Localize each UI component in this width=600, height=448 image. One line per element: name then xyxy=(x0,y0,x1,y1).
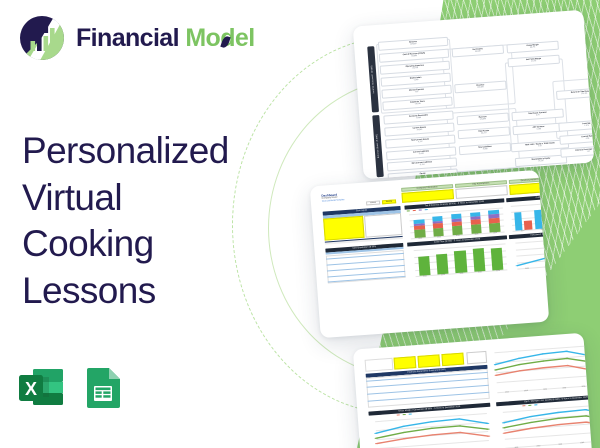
headline-line-4: Lessons xyxy=(22,268,292,315)
page-title: Personalized Virtual Cooking Lessons xyxy=(22,128,292,314)
tree-node: Current Assets24,080 xyxy=(384,123,454,137)
microsoft-excel-icon[interactable]: X xyxy=(17,363,65,411)
brand-name-part2: Model xyxy=(185,24,254,52)
headline-line-1: Personalized xyxy=(22,128,292,175)
gross-margin-line-chart xyxy=(375,413,489,448)
margins-and-ebitda-screenshot[interactable]: Financial Statements Summary ($ 000) 202… xyxy=(353,333,594,448)
financial-ratio-tree-screenshot[interactable]: Income Statement ($ 000) Balance Sheet (… xyxy=(353,10,595,180)
promo-banner: Financial Model Personalized Virtual Coo… xyxy=(0,0,600,448)
summary-output xyxy=(466,351,487,364)
ebit-ebitda-line-chart xyxy=(503,404,594,448)
table-input-block[interactable] xyxy=(323,216,365,241)
dashboard-body: Dashboard Company Name Financial Model T… xyxy=(319,177,540,330)
financial-model-circle-logo xyxy=(18,14,66,62)
summary-input-c[interactable] xyxy=(441,353,464,367)
brand-logo: Financial Model xyxy=(18,14,255,62)
chart-legend xyxy=(397,414,412,416)
svg-text:X: X xyxy=(25,379,37,399)
headline-line-2: Virtual xyxy=(22,175,292,222)
brand-name-part1: Financial xyxy=(76,24,179,52)
revenue-gross-profit-line-chart xyxy=(494,345,593,392)
google-sheets-icon[interactable] xyxy=(79,363,127,411)
headline-line-3: Cooking xyxy=(22,221,292,268)
toggle-annual[interactable]: Annual xyxy=(366,200,380,205)
lines-card-body: Financial Statements Summary ($ 000) 202… xyxy=(362,340,584,448)
dupont-tree-diagram: Income Statement ($ 000) Balance Sheet (… xyxy=(362,17,585,171)
tree-node: Gross Margin56.2% xyxy=(506,41,558,53)
file-format-icons: X xyxy=(17,363,127,411)
dashboard-subtitle: Financial Model Template xyxy=(322,199,345,203)
chart-legend xyxy=(407,209,428,211)
summary-labels xyxy=(365,358,394,372)
chart-title: EBIT / EBITDA / Net Income ($ 000) - 5 Y… xyxy=(496,394,594,407)
band-balance-sheet: Balance Sheet ($ 000) xyxy=(372,115,384,177)
brand-name: Financial Model xyxy=(76,24,255,53)
table-calc-block xyxy=(364,213,403,238)
financial-dashboard-screenshot[interactable]: Dashboard Company Name Financial Model T… xyxy=(310,170,550,338)
toggle-monthly[interactable]: Monthly xyxy=(382,199,396,204)
summary-input-a[interactable] xyxy=(394,356,417,370)
summary-input-b[interactable] xyxy=(417,354,440,368)
tree-node: Shareholder's Equity24,167 xyxy=(515,154,567,166)
tree-node: Non-Current Assets9,137 xyxy=(385,134,455,148)
chart-legend xyxy=(522,404,537,406)
